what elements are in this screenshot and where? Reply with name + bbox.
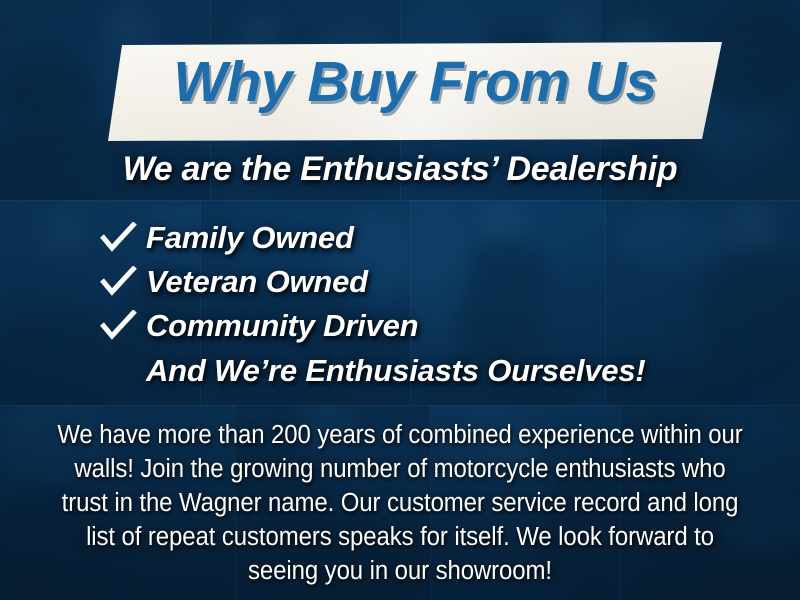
benefits-list: Family Owned Veteran Owned Community Dri… — [100, 216, 740, 394]
page-title: Why Buy From Us — [100, 49, 730, 115]
list-item: And We’re Enthusiasts Ourselves! — [100, 348, 740, 394]
list-item-label: And We’re Enthusiasts Ourselves! — [146, 353, 646, 389]
why-buy-from-us-poster: Why Buy From Us We are the Enthusiasts’ … — [0, 0, 800, 600]
list-item-label: Veteran Owned — [146, 264, 368, 300]
check-icon — [100, 310, 146, 342]
list-item-label: Family Owned — [146, 220, 354, 256]
body-paragraph: We have more than 200 years of combined … — [50, 418, 749, 588]
list-item: Community Driven — [100, 304, 740, 348]
check-icon — [100, 266, 146, 298]
list-item: Family Owned — [100, 216, 740, 260]
headline-banner: Why Buy From Us — [100, 40, 730, 145]
check-icon — [100, 222, 146, 254]
subtitle: We are the Enthusiasts’ Dealership — [0, 150, 800, 189]
list-item: Veteran Owned — [100, 260, 740, 304]
list-item-label: Community Driven — [146, 308, 418, 344]
